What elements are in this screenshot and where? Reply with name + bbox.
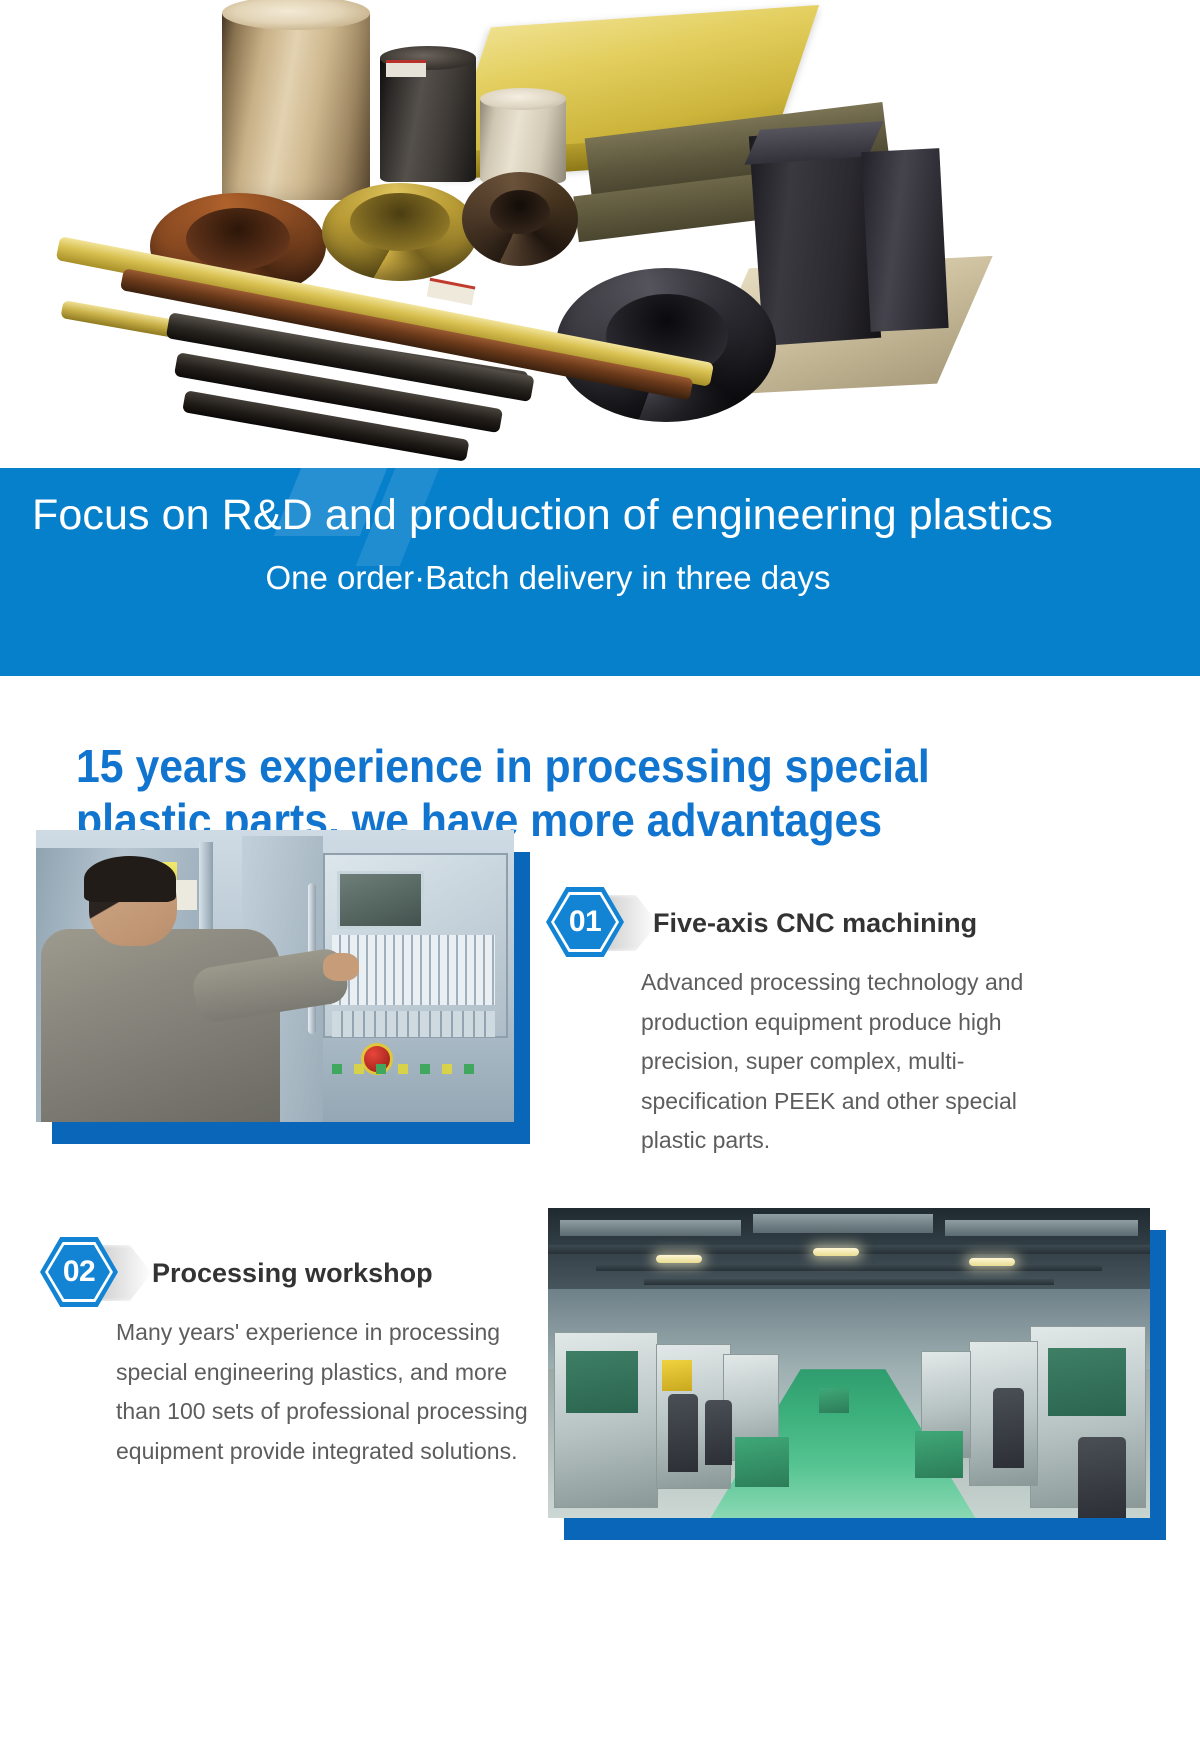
ceiling-beam-two [596,1264,1102,1271]
ceiling-duct-left [560,1220,741,1236]
banner-subheadline: One order·Batch delivery in three days [0,560,1096,596]
operator-hand [323,953,359,981]
black-rod-label [386,60,426,77]
feature-01-description: Advanced processing technology and produ… [641,963,1073,1161]
operator-body [41,929,280,1122]
worker-left-one [668,1394,698,1472]
cabinet-warning-label-three [175,880,197,910]
worker-left-two [705,1400,732,1465]
material-cart-right [915,1431,963,1478]
worker-right-one [993,1388,1023,1469]
ceiling-duct-center [753,1214,934,1233]
gold-tube-bore [350,193,450,251]
ceiling-lamp-three [969,1258,1015,1266]
feature-02-description: Many years' experience in processing spe… [116,1313,528,1471]
ceiling-beam-three [644,1279,1053,1285]
cnc-panel-keyrow [332,1011,495,1037]
dark-ring-bore [490,190,550,234]
feature-01-photo [36,830,514,1122]
cream-rod-top-face [480,88,566,110]
hero-product-composition [0,0,1200,470]
feature-02-photo [548,1208,1150,1518]
tan-plastic-rod [222,8,370,200]
worker-right-two [1078,1437,1126,1518]
feature-02-title: Processing workshop [152,1258,433,1289]
operator-hair [84,856,176,902]
blue-banner: Focus on R&D and production of engineeri… [0,468,1200,676]
feature-01-number-badge: 01 [546,887,624,957]
brown-ring-bore [186,208,290,270]
black-plastic-block-right [861,148,948,332]
ceiling-lamp-two [813,1248,859,1256]
cnc-machine-left-1-window [566,1351,638,1413]
cnc-panel-indicator-lights [332,1064,475,1074]
material-cart-left [735,1437,789,1487]
feature-02-number-badge: 02 [40,1237,118,1307]
ceiling-lamp-one [656,1255,702,1263]
brown-rod-label [427,278,476,305]
material-cart-far [819,1388,849,1413]
cnc-machine-right-1-window [1048,1348,1126,1416]
cnc-machine-left-2-panel [662,1360,692,1391]
hero-product-image [0,0,1200,470]
feature-01-title: Five-axis CNC machining [653,908,977,939]
cnc-panel-screen [337,871,424,930]
ceiling-duct-right [945,1220,1138,1236]
section-heading-line-1: 15 years experience in processing specia… [76,739,1015,793]
banner-headline: Focus on R&D and production of engineeri… [32,492,1162,539]
